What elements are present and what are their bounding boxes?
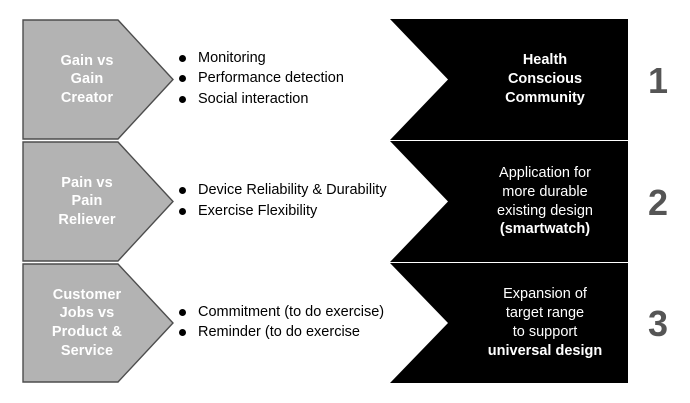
list-item: Commitment (to do exercise) [174, 303, 392, 322]
bullet-list: Monitoring Performance detection Social … [174, 19, 392, 140]
step-number: 3 [636, 306, 680, 342]
list-item: Exercise Flexibility [174, 202, 392, 221]
list-item: Reminder (to do exercise [174, 323, 392, 342]
bullet-list-items: Device Reliability & Durability Exercise… [174, 181, 392, 221]
diagram-row: CustomerJobs vsProduct &Service Commitme… [22, 263, 628, 383]
list-item: Social interaction [174, 90, 392, 109]
diagram-row: Gain vsGainCreator Monitoring Performanc… [22, 19, 628, 140]
bullet-list: Device Reliability & Durability Exercise… [174, 141, 392, 262]
bullet-list-items: Monitoring Performance detection Social … [174, 49, 392, 109]
list-item: Performance detection [174, 69, 392, 88]
bullet-list: Commitment (to do exercise) Reminder (to… [174, 263, 392, 383]
diagram-row: Pain vsPainReliever Device Reliability &… [22, 141, 628, 262]
step-number: 1 [636, 63, 680, 99]
list-item: Device Reliability & Durability [174, 181, 392, 200]
bullet-list-items: Commitment (to do exercise) Reminder (to… [174, 303, 392, 343]
diagram-canvas: Gain vsGainCreator Monitoring Performanc… [0, 0, 690, 403]
list-item: Monitoring [174, 49, 392, 68]
step-number: 2 [636, 185, 680, 221]
